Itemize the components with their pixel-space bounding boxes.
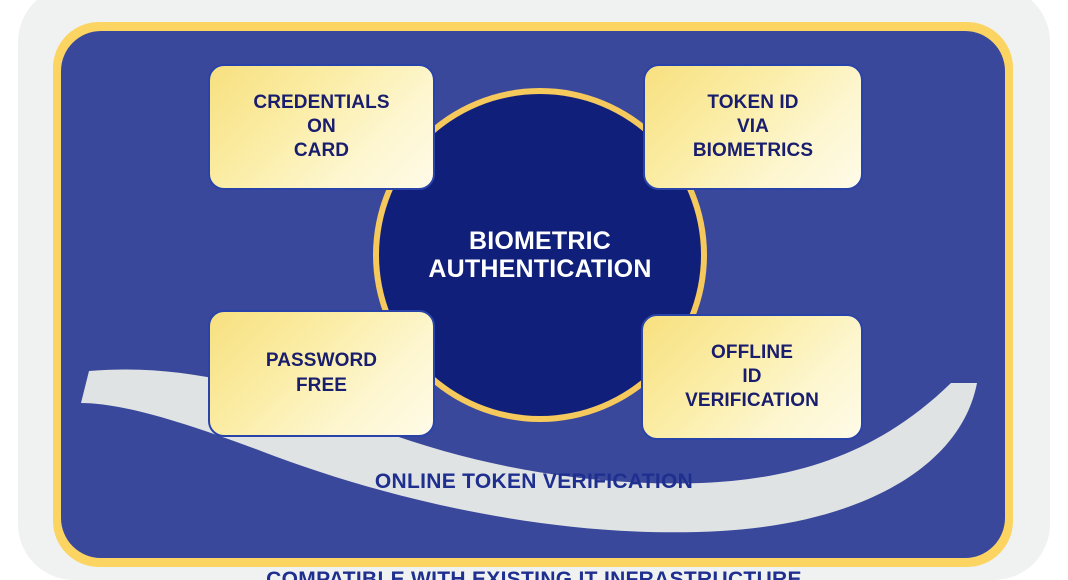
card-offline-id-verification-label: OFFLINE ID VERIFICATION (685, 341, 819, 414)
card-token-id-via-biometrics[interactable]: TOKEN ID VIA BIOMETRICS (643, 64, 863, 190)
card-password-free[interactable]: PASSWORD FREE (208, 310, 435, 437)
card-credentials-on-card[interactable]: CREDENTIALS ON CARD (208, 64, 435, 190)
card-token-id-via-biometrics-label: TOKEN ID VIA BIOMETRICS (693, 91, 813, 164)
diagram-canvas: BIOMETRIC AUTHENTICATION CREDENTIALS ON … (0, 0, 1068, 580)
center-circle-label: BIOMETRIC AUTHENTICATION (428, 227, 651, 283)
compatible-infrastructure-caption: COMPATIBLE WITH EXISTING IT INFRASTRUCTU… (0, 568, 1068, 580)
card-password-free-label: PASSWORD FREE (266, 349, 377, 398)
online-token-verification-banner: ONLINE TOKEN VERIFICATION (0, 470, 1068, 494)
card-offline-id-verification[interactable]: OFFLINE ID VERIFICATION (641, 314, 863, 440)
card-credentials-on-card-label: CREDENTIALS ON CARD (253, 91, 389, 164)
